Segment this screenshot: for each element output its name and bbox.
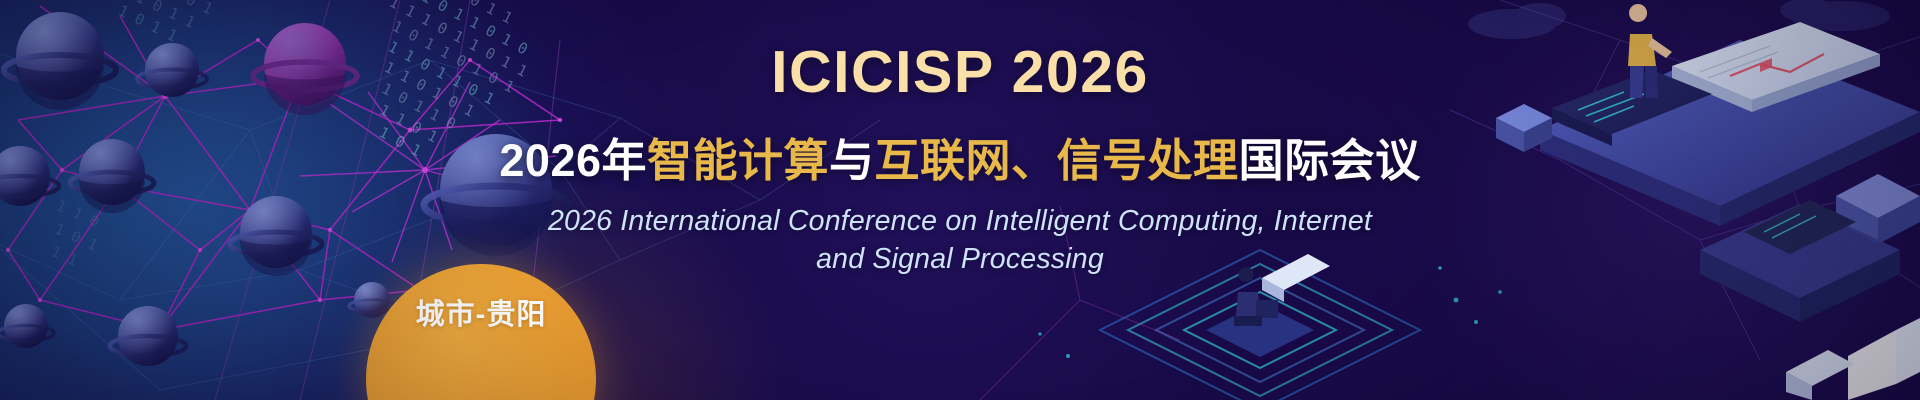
chinese-title-part-4: 互联网、信号处理: [875, 135, 1239, 186]
chinese-title-part-5: 国际会议: [1239, 135, 1421, 186]
conference-banner: 1 1 0 1 0 1 1 1 1 0 1 1 0 1 0 1 1 1 0 1 …: [0, 0, 1920, 400]
conference-acronym-title: ICICISP 2026: [0, 43, 1920, 102]
conference-english-title-line1: 2026 International Conference on Intelli…: [0, 204, 1920, 240]
city-badge-label: 城市-贵阳: [366, 264, 596, 400]
chinese-title-part-1: 2026年: [499, 135, 647, 186]
chinese-title-part-2: 智能计算: [647, 135, 829, 186]
conference-chinese-title: 2026年智能计算与互联网、信号处理国际会议: [0, 136, 1920, 186]
chinese-title-part-3: 与: [829, 135, 875, 186]
banner-text-block: ICICISP 2026 2026年智能计算与互联网、信号处理国际会议 2026…: [0, 0, 1920, 400]
conference-english-title-line2: and Signal Processing: [0, 242, 1920, 278]
